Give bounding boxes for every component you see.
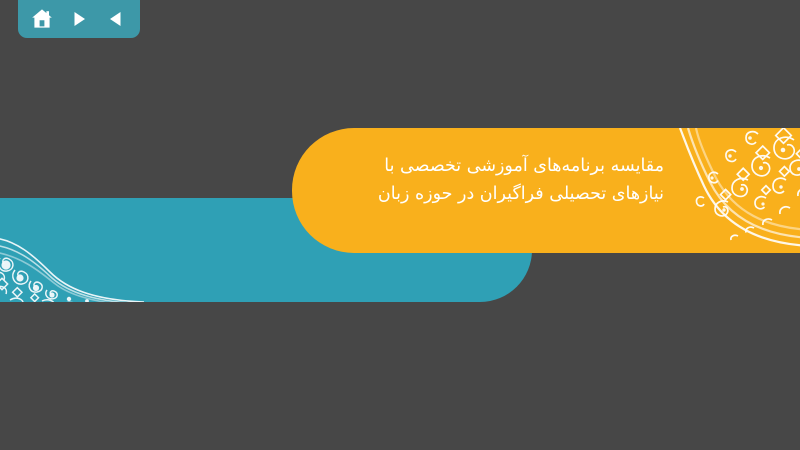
next-slide-button[interactable]	[64, 4, 94, 34]
arabesque-corner-ornament	[662, 128, 800, 253]
orange-title-band: مقایسه برنامه‌های آموزشی تخصصی با نیازها…	[292, 128, 800, 253]
triangle-left-icon	[106, 9, 126, 29]
home-icon	[30, 8, 54, 30]
title-line-2: نیازهای تحصیلی فراگیران در حوزه زبان	[334, 180, 664, 208]
slide-navigation-bar	[18, 0, 140, 38]
arabesque-ornament	[0, 218, 144, 302]
slide-title: مقایسه برنامه‌های آموزشی تخصصی با نیازها…	[334, 152, 664, 208]
presentation-slide: مقایسه برنامه‌های آموزشی تخصصی با نیازها…	[0, 0, 800, 450]
previous-slide-button[interactable]	[101, 4, 131, 34]
triangle-right-icon	[69, 9, 89, 29]
home-button[interactable]	[27, 4, 57, 34]
title-line-1: مقایسه برنامه‌های آموزشی تخصصی با	[334, 152, 664, 180]
